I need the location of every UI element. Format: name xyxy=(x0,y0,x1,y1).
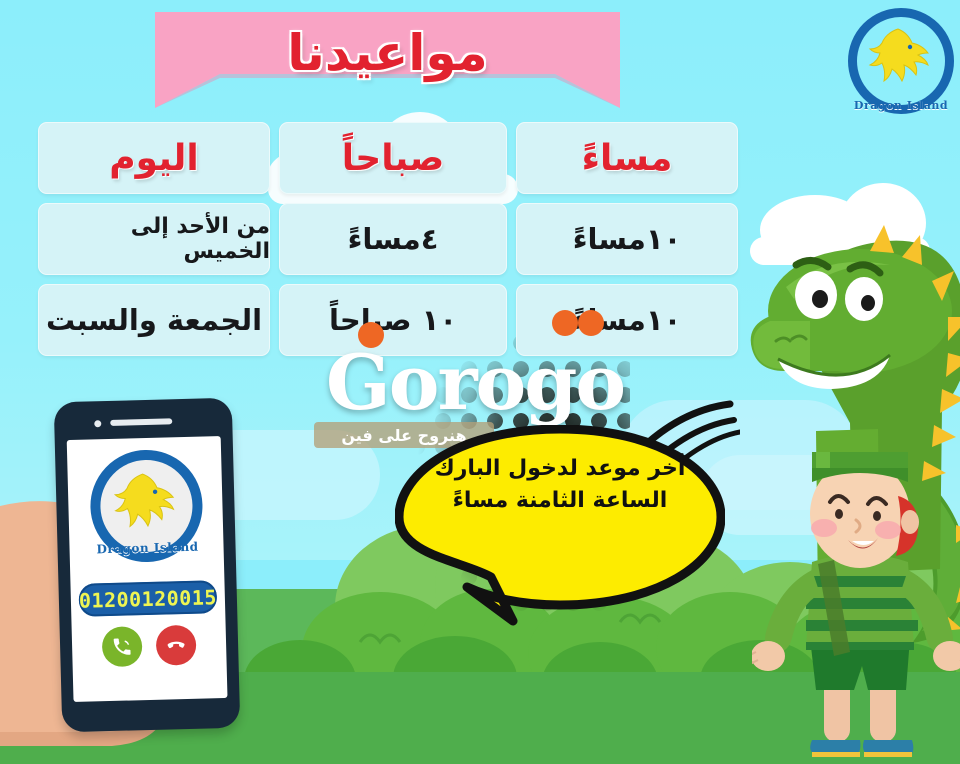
value-morning-row1: ٤مساءً xyxy=(348,222,439,256)
poster-canvas: مساءً صباحاً اليوم ١٠مساءً ٤مساءً من الأ… xyxy=(0,0,960,764)
header-cell-morning: صباحاً xyxy=(279,122,507,194)
phone-call-icon xyxy=(111,635,134,658)
cell-morning-row1: ٤مساءً xyxy=(279,203,507,275)
cell-day-row2: الجمعة والسبت xyxy=(38,284,270,356)
title-ribbon: مواعيدنا xyxy=(155,12,620,112)
page-title: مواعيدنا xyxy=(155,18,620,88)
notice-text: أخر موعد لدخول البارك الساعة الثامنة مسا… xyxy=(395,453,725,517)
cell-evening-row1: ١٠مساءً xyxy=(516,203,738,275)
notice-line-1: أخر موعد لدخول البارك xyxy=(423,453,697,485)
header-label-morning: صباحاً xyxy=(342,138,444,179)
value-morning-row2: ١٠ صباحاً xyxy=(329,303,457,337)
phone-screen: Dragon Island 01200120015 xyxy=(67,436,228,702)
value-day-row2: الجمعة والسبت xyxy=(46,303,262,337)
brand-logo-phone: Dragon Island xyxy=(89,449,204,564)
table-header-row: مساءً صباحاً اليوم xyxy=(38,122,738,194)
notice-line-2: الساعة الثامنة مساءً xyxy=(423,485,697,517)
call-decline-button[interactable] xyxy=(156,625,197,666)
call-accept-button[interactable] xyxy=(102,626,143,667)
watermark-dot-mid xyxy=(552,310,578,336)
brand-logo-corner: Dragon Island xyxy=(848,8,954,114)
phone-number-field: 01200120015 xyxy=(78,580,217,617)
header-cell-day: اليوم xyxy=(38,122,270,194)
table-row: ١٠مساءً ٤مساءً من الأحد إلى الخميس xyxy=(38,203,738,275)
watermark-text: Gorogo xyxy=(300,338,650,427)
value-day-row1: من الأحد إلى الخميس xyxy=(38,214,270,264)
dragon-head-icon xyxy=(868,27,934,87)
dragon-head-icon xyxy=(113,470,181,534)
header-cell-evening: مساءً xyxy=(516,122,738,194)
watermark-dot-right xyxy=(578,310,604,336)
cell-day-row1: من الأحد إلى الخميس xyxy=(38,203,270,275)
schedule-table: مساءً صباحاً اليوم ١٠مساءً ٤مساءً من الأ… xyxy=(38,122,738,365)
phone-number-value: 01200120015 xyxy=(79,585,218,613)
phone-speaker xyxy=(110,418,172,426)
value-evening-row1: ١٠مساءً xyxy=(573,222,682,256)
boy-character xyxy=(752,452,960,764)
notice-speech-bubble: أخر موعد لدخول البارك الساعة الثامنة مسا… xyxy=(395,425,725,610)
logo-wordmark: Dragon Island xyxy=(848,99,954,112)
phone-device: Dragon Island 01200120015 xyxy=(54,398,241,733)
phone-camera-icon xyxy=(94,420,101,427)
logo-wordmark: Dragon Island xyxy=(91,540,203,557)
header-label-day: اليوم xyxy=(109,138,199,179)
phone-hangup-icon xyxy=(165,634,188,657)
header-label-evening: مساءً xyxy=(582,138,673,179)
